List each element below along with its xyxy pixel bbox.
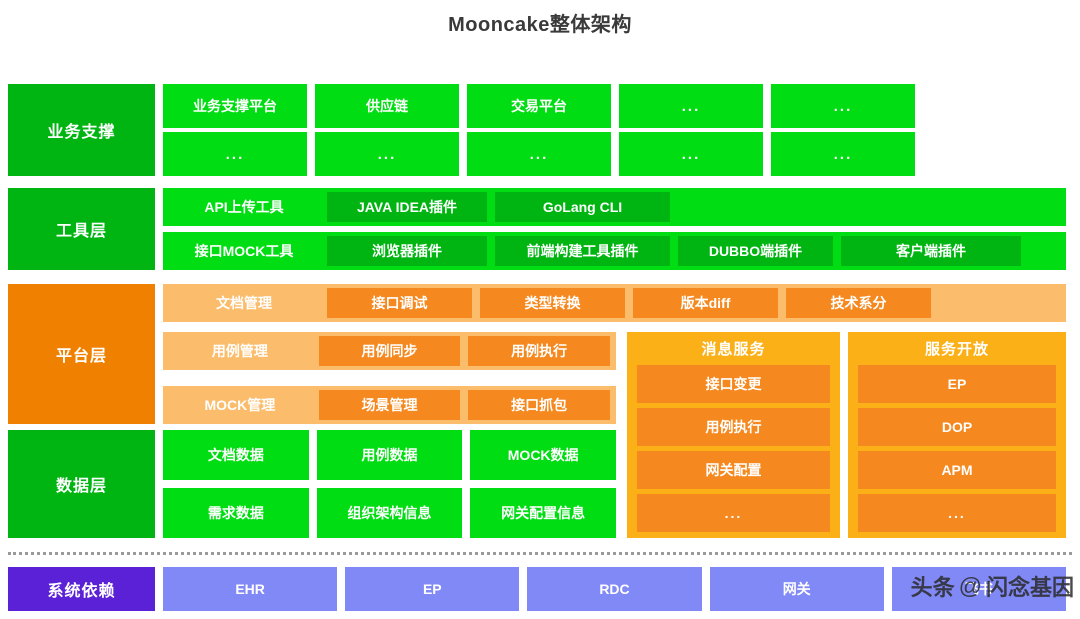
data-layer-cell: MOCK数据: [470, 430, 616, 480]
platform-layer-chip: 版本diff: [633, 288, 778, 318]
layer-label-platform: 平台层: [8, 284, 155, 424]
business-support-cell: ...: [771, 84, 915, 128]
platform-layer-chip: 文档管理: [169, 288, 319, 318]
business-support-grid: 业务支撑平台供应链交易平台.....................: [163, 84, 915, 176]
tool-layer-chip: 浏览器插件: [327, 236, 487, 266]
platform-layer-chip: 用例管理: [169, 336, 311, 366]
business-support-cell: ...: [619, 132, 763, 176]
data-layer-cell: 组织架构信息: [317, 488, 463, 538]
dotted-divider: [8, 552, 1072, 555]
data-layer-cell: 需求数据: [163, 488, 309, 538]
tool-layer-chip: 客户端插件: [841, 236, 1021, 266]
layer-label-dependency: 系统依赖: [8, 567, 155, 611]
business-support-cell: ...: [315, 132, 459, 176]
panel-service-open: 服务开放 EP DOP APM ...: [848, 332, 1066, 538]
platform-layer-chip: 接口抓包: [468, 390, 610, 420]
tool-layer-row-1: API上传工具JAVA IDEA插件GoLang CLI: [163, 188, 1066, 226]
business-support-cell: ...: [771, 132, 915, 176]
panel-item: 网关配置: [637, 451, 830, 489]
data-layer-grid: 文档数据用例数据MOCK数据需求数据组织架构信息网关配置信息: [163, 430, 616, 538]
panel-message-service: 消息服务 接口变更 用例执行 网关配置 ...: [627, 332, 840, 538]
tool-layer-row-2: 接口MOCK工具浏览器插件前端构建工具插件DUBBO端插件客户端插件: [163, 232, 1066, 270]
tool-layer-chip: JAVA IDEA插件: [327, 192, 487, 222]
platform-layer-row-2: 用例管理用例同步用例执行: [163, 332, 616, 370]
system-dependency-cell: 网关: [710, 567, 884, 611]
data-layer-cell: 文档数据: [163, 430, 309, 480]
tool-layer-chip: API上传工具: [169, 192, 319, 222]
panel-item: EP: [858, 365, 1056, 403]
panel-item: 接口变更: [637, 365, 830, 403]
system-dependency-cell: RDC: [527, 567, 701, 611]
system-dependency-cell: EP: [345, 567, 519, 611]
data-layer-cell: 用例数据: [317, 430, 463, 480]
system-dependency-row: EHREPRDC网关飞书: [163, 567, 1066, 611]
platform-layer-row-3: MOCK管理场景管理接口抓包: [163, 386, 616, 424]
panel-title: 消息服务: [637, 338, 830, 359]
business-support-cell: ...: [467, 132, 611, 176]
platform-layer-chip: 场景管理: [319, 390, 461, 420]
platform-layer-chip: 技术系分: [786, 288, 931, 318]
panel-item: ...: [858, 494, 1056, 532]
system-dependency-cell: EHR: [163, 567, 337, 611]
business-support-cell: ...: [163, 132, 307, 176]
business-support-cell: 业务支撑平台: [163, 84, 307, 128]
layer-label-tools: 工具层: [8, 188, 155, 270]
platform-layer-chip: 用例同步: [319, 336, 461, 366]
architecture-diagram: Mooncake整体架构 业务支撑 业务支撑平台供应链交易平台.........…: [0, 0, 1080, 619]
data-layer-cell: 网关配置信息: [470, 488, 616, 538]
panel-item: DOP: [858, 408, 1056, 446]
tool-layer-chip: DUBBO端插件: [678, 236, 833, 266]
panel-title: 服务开放: [858, 338, 1056, 359]
panel-item: APM: [858, 451, 1056, 489]
platform-layer-chip: MOCK管理: [169, 390, 311, 420]
system-dependency-cell: 飞书: [892, 567, 1066, 611]
business-support-cell: 供应链: [315, 84, 459, 128]
tool-layer-chip: GoLang CLI: [495, 192, 670, 222]
platform-layer-chip: 类型转换: [480, 288, 625, 318]
platform-layer-row-1: 文档管理接口调试类型转换版本diff技术系分: [163, 284, 1066, 322]
business-support-cell: ...: [619, 84, 763, 128]
panel-item: 用例执行: [637, 408, 830, 446]
layer-label-business: 业务支撑: [8, 84, 155, 176]
panel-item: ...: [637, 494, 830, 532]
page-title: Mooncake整体架构: [0, 8, 1080, 37]
tool-layer-chip: 前端构建工具插件: [495, 236, 670, 266]
business-support-cell: 交易平台: [467, 84, 611, 128]
platform-layer-chip: 接口调试: [327, 288, 472, 318]
tool-layer-chip: 接口MOCK工具: [169, 236, 319, 266]
platform-layer-chip: 用例执行: [468, 336, 610, 366]
layer-label-data: 数据层: [8, 430, 155, 538]
